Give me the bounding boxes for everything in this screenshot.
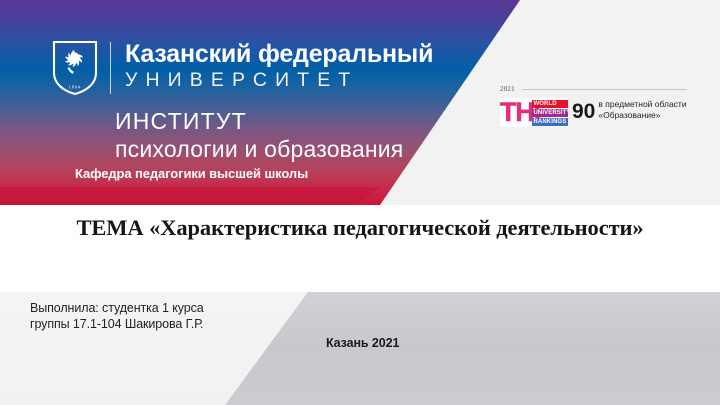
kfu-logo-lockup: 1804 Казанский федеральный УНИВЕРСИТЕТ bbox=[52, 40, 433, 96]
badge-description: в предметной области «Образование» bbox=[598, 99, 686, 121]
badge-content-row: THE WORLD UNIVERSITY RANKINGS 90 в предм… bbox=[500, 98, 695, 127]
institute-line1: ИНСТИТУТ bbox=[115, 108, 247, 134]
author-line2: группы 17.1-104 Шакирова Г.Р. bbox=[30, 316, 204, 332]
city-year-label: Казань 2021 bbox=[326, 336, 399, 350]
institute-line2: психологии и образования bbox=[115, 136, 403, 162]
slide-canvas: 1804 Казанский федеральный УНИВЕРСИТЕТ И… bbox=[0, 0, 720, 405]
kfu-shield-icon: 1804 bbox=[52, 40, 98, 96]
shield-year-label: 1804 bbox=[69, 85, 82, 90]
badge-year-row: 2021 bbox=[500, 84, 695, 94]
department-name: Кафедра педагогики высшей школы bbox=[75, 166, 308, 182]
header-crimson-strip bbox=[0, 187, 400, 205]
logo-divider bbox=[110, 42, 111, 94]
author-line1: Выполнила: студентка 1 курса bbox=[30, 300, 204, 316]
the-logo-row-world: WORLD bbox=[532, 100, 568, 108]
badge-year-label: 2021 bbox=[500, 85, 515, 93]
title-band: ТЕМА «Характеристика педагогической деят… bbox=[0, 205, 720, 292]
author-block: Выполнила: студентка 1 курса группы 17.1… bbox=[30, 300, 204, 332]
the-logo-row-university: UNIVERSITY bbox=[532, 109, 568, 117]
header-banner: 1804 Казанский федеральный УНИВЕРСИТЕТ И… bbox=[0, 0, 720, 205]
page-title: ТЕМА «Характеристика педагогической деят… bbox=[0, 215, 720, 241]
the-ranking-badge: 2021 THE WORLD UNIVERSITY RANKINGS 90 в … bbox=[500, 84, 695, 127]
kfu-wordmark: Казанский федеральный УНИВЕРСИТЕТ bbox=[125, 40, 433, 92]
university-name-line2: УНИВЕРСИТЕТ bbox=[125, 68, 433, 92]
the-logo-rows: WORLD UNIVERSITY RANKINGS bbox=[532, 100, 568, 127]
badge-desc-line2: «Образование» bbox=[598, 110, 686, 121]
badge-desc-line1: в предметной области bbox=[598, 99, 686, 110]
footer-area: Выполнила: студентка 1 курса группы 17.1… bbox=[0, 292, 720, 405]
the-logo-row-rankings: RANKINGS bbox=[532, 118, 568, 126]
badge-rule-line bbox=[522, 89, 687, 90]
badge-rank-number: 90 bbox=[572, 101, 595, 123]
the-logo: THE WORLD UNIVERSITY RANKINGS bbox=[500, 98, 568, 127]
university-name-line1: Казанский федеральный bbox=[125, 40, 433, 68]
